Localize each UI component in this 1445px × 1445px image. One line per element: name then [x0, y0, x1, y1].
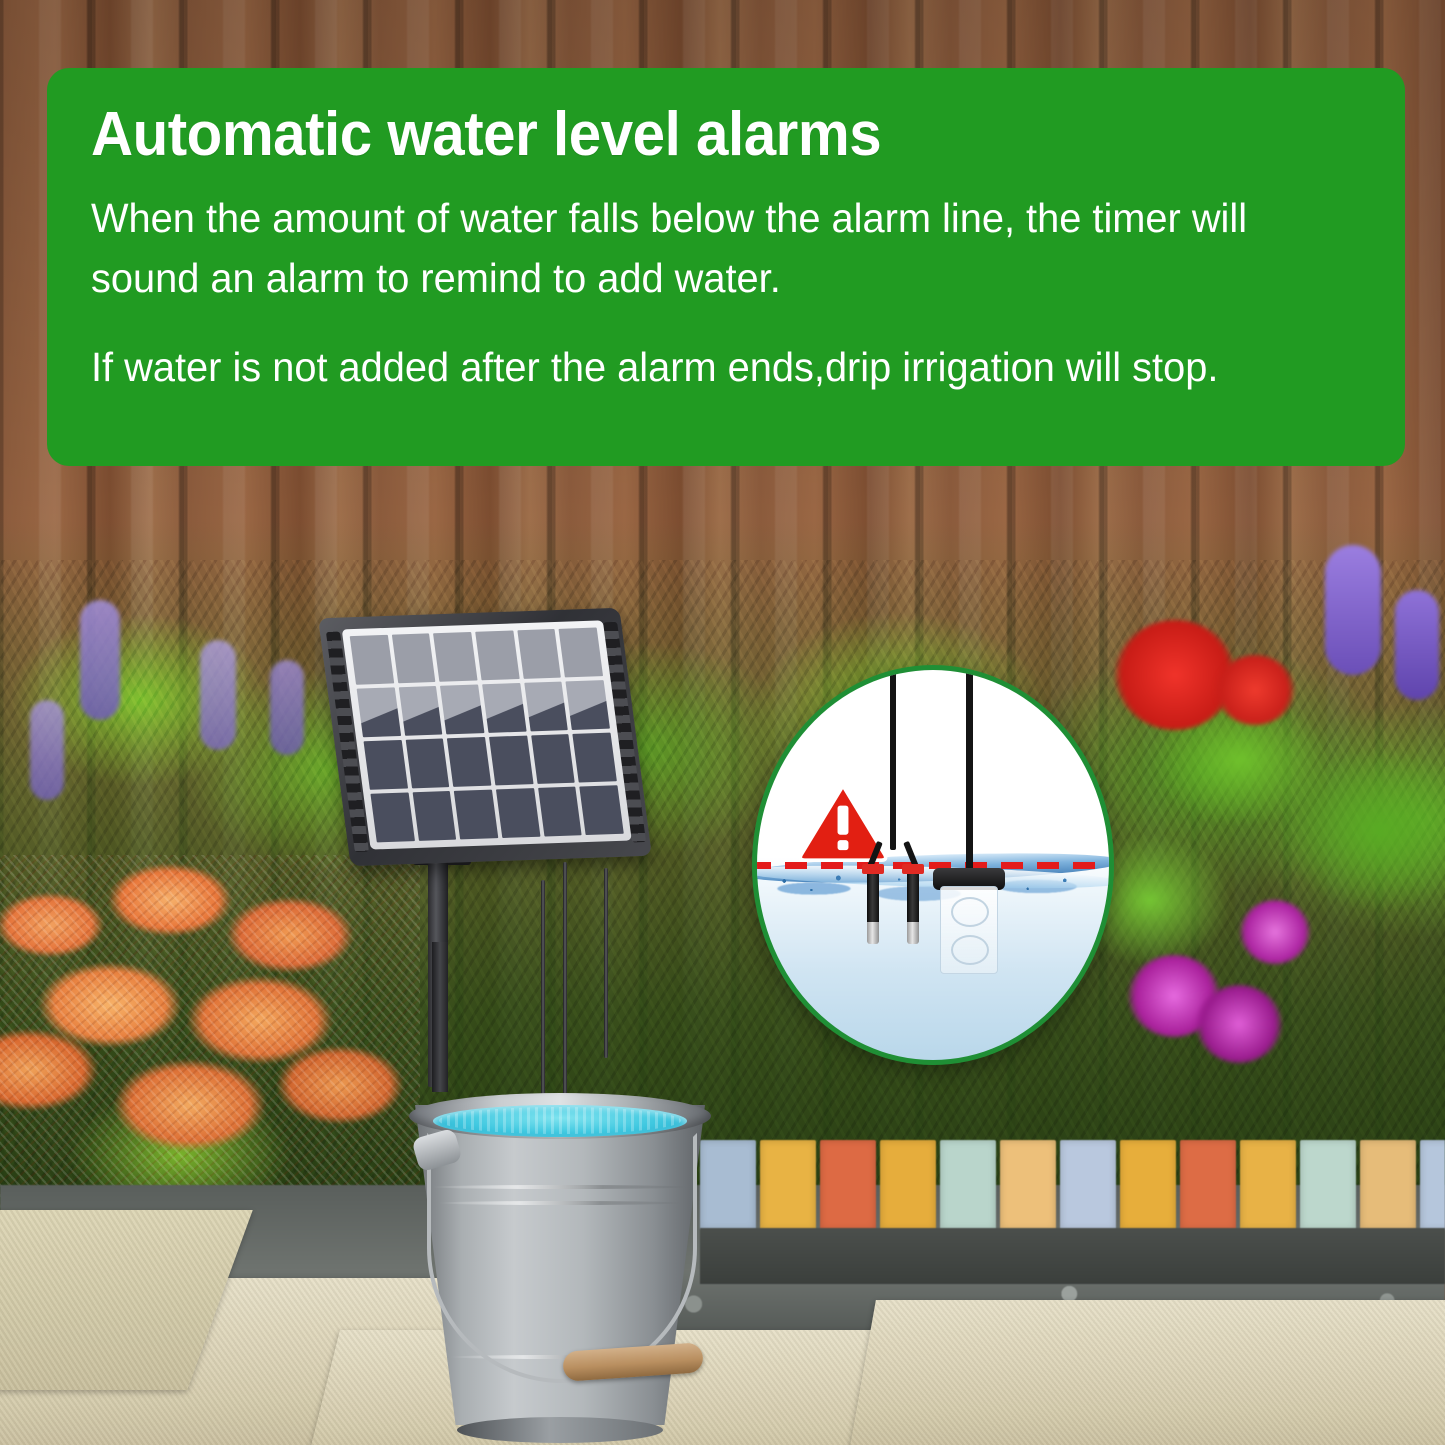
metal-stake [604, 868, 608, 1058]
float-sensor-probe-left [867, 870, 879, 926]
pump-intake-lower [951, 935, 989, 965]
alarm-line [752, 862, 1114, 869]
soil-strip [700, 1228, 1445, 1284]
probe-collar-right [902, 864, 924, 874]
solar-panel-glass [342, 620, 632, 849]
probe-collar-left [862, 864, 884, 874]
bucket-base [457, 1417, 663, 1443]
pump-cable [966, 670, 973, 870]
purple-salvia-spikes [1325, 545, 1381, 675]
galvanized-water-bucket [405, 1075, 715, 1445]
lavender-spike [200, 640, 236, 750]
banner-paragraph-2: If water is not added after the alarm en… [91, 338, 1323, 397]
probe-tip-right [907, 922, 919, 944]
banner-paragraph-1: When the amount of water falls below the… [91, 189, 1323, 308]
submersible-pump [940, 886, 998, 974]
probe-tip-left [867, 922, 879, 944]
water-level-alarm-detail-circle [752, 665, 1114, 1065]
solar-panel-frame [318, 608, 652, 866]
lavender-spike [270, 660, 304, 755]
purple-petunias [1196, 985, 1282, 1063]
float-sensor-probe-right [907, 870, 919, 926]
colored-brick-edging [700, 1140, 1445, 1230]
solar-cell-grid [350, 628, 624, 843]
lavender-spike [30, 700, 64, 800]
product-marketing-image: Automatic water level alarms When the am… [0, 0, 1445, 1445]
paving-stone [844, 1300, 1445, 1445]
red-flowers [1115, 620, 1235, 730]
solar-panel [335, 612, 675, 1042]
sensor-cable-main [890, 670, 896, 850]
purple-petunias [1240, 900, 1310, 964]
purple-salvia-spikes [1395, 590, 1439, 700]
pump-intake-upper [951, 897, 989, 927]
water-surface-texture [439, 1107, 681, 1134]
page-title: Automatic water level alarms [91, 102, 1285, 167]
solar-panel-pole-lower [432, 942, 448, 1092]
headline-banner: Automatic water level alarms When the am… [47, 68, 1405, 466]
lavender-spike [80, 600, 120, 720]
red-flowers [1215, 655, 1295, 725]
